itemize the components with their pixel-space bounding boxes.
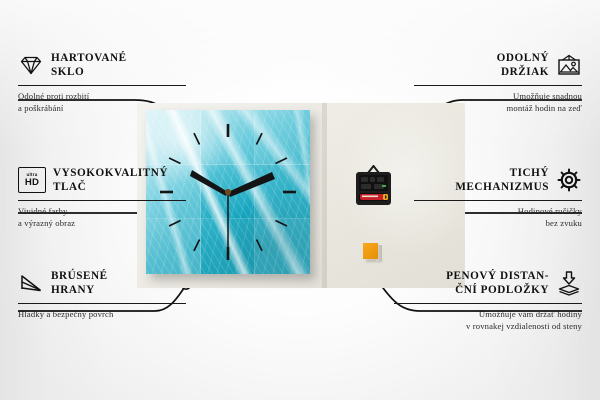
feature-high-quality-print: ultra HD VYSOKOKVALITNÝ TLAČ Vividné far…	[18, 163, 186, 229]
diamond-icon	[18, 52, 44, 78]
feature-description: Hladký a bezpečný povrch	[18, 308, 186, 320]
feature-header: HARTOVANÉ SKLO	[18, 48, 186, 82]
foam-spacer-pad	[363, 243, 382, 262]
brushed-edges-icon	[18, 270, 44, 296]
feature-header: PENOVÝ DISTAN- ČNÍ PODLOŽKY	[394, 266, 582, 300]
feature-title: HARTOVANÉ SKLO	[51, 51, 127, 80]
feature-description: Odolné proti rozbití a poškrábání	[18, 90, 186, 114]
feature-description: Umožňuje vám držať hodiny v rovnakej vzd…	[394, 308, 582, 332]
feature-foam-spacers: PENOVÝ DISTAN- ČNÍ PODLOŽKY Umožňuje vám…	[394, 266, 582, 332]
feature-title: VYSOKOKVALITNÝ TLAČ	[53, 166, 168, 195]
arrow-onto-layers-icon	[556, 270, 582, 296]
feature-silent-mechanism: TICHÝ MECHANIZMUS Hodinové ručičky bez z…	[414, 163, 582, 229]
feature-divider	[394, 303, 582, 304]
infographic-canvas: HARTOVANÉ SKLO Odolné proti rozbití a po…	[0, 0, 600, 400]
feature-divider	[18, 85, 186, 86]
feature-divider	[18, 303, 186, 304]
feature-divider	[414, 200, 582, 201]
feature-brushed-edges: BRÚSENÉ HRANY Hladký a bezpečný povrch	[18, 266, 186, 320]
ultra-hd-badge-icon: ultra HD	[18, 167, 46, 193]
feature-description: Umožňuje snadnou montáž hodin na zeď	[414, 90, 582, 114]
feature-description: Hodinové ručičky bez zvuku	[414, 205, 582, 229]
feature-header: BRÚSENÉ HRANY	[18, 266, 186, 300]
feature-header: TICHÝ MECHANIZMUS	[414, 163, 582, 197]
feature-divider	[414, 85, 582, 86]
feature-title: BRÚSENÉ HRANY	[51, 269, 108, 298]
feature-description: Vividné farby a výrazný obraz	[18, 205, 186, 229]
clock-hands	[190, 170, 275, 252]
quartz-mechanism	[353, 165, 394, 209]
foam-pad-top	[363, 243, 378, 259]
feature-divider	[18, 200, 186, 201]
feature-tempered-glass: HARTOVANÉ SKLO Odolné proti rozbití a po…	[18, 48, 186, 114]
feature-durable-hanger: ODOLNÝ DRŽIAK Umožňuje snadnou montáž ho…	[414, 48, 582, 114]
feature-header: ODOLNÝ DRŽIAK	[414, 48, 582, 82]
feature-title: ODOLNÝ DRŽIAK	[497, 51, 549, 80]
feature-header: ultra HD VYSOKOKVALITNÝ TLAČ	[18, 163, 186, 197]
wall-hanger-frame-icon	[556, 52, 582, 78]
feature-title: TICHÝ MECHANIZMUS	[455, 166, 549, 195]
feature-title: PENOVÝ DISTAN- ČNÍ PODLOŽKY	[446, 269, 549, 298]
gear-icon	[556, 167, 582, 193]
